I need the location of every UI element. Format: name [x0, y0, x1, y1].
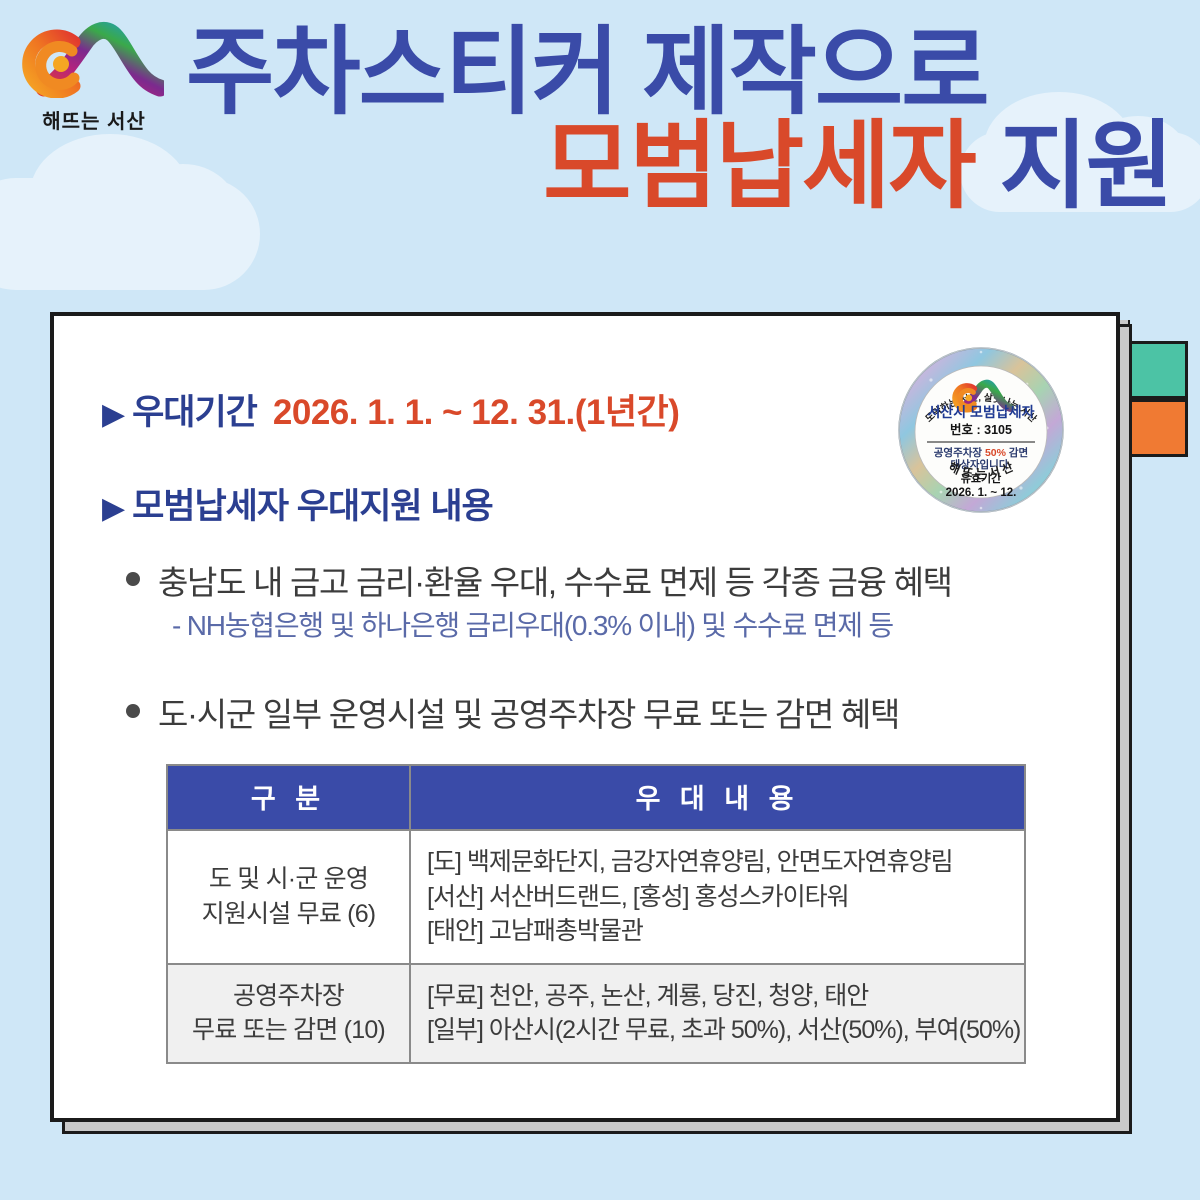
benefit-2-line-1: [무료] 천안, 공주, 논산, 계룡, 당진, 청양, 태안 — [427, 979, 1024, 1014]
bullet-item-1: 충남도 내 금고 금리·환율 우대, 수수료 면제 등 각종 금융 혜택 — [126, 556, 952, 604]
table-cell-category-2: 공영주차장 무료 또는 감면 (10) — [167, 964, 410, 1063]
table-row: 공영주차장 무료 또는 감면 (10) [무료] 천안, 공주, 논산, 계룡,… — [167, 964, 1025, 1063]
category-1-line-2: 지원시설 무료 (6) — [174, 897, 403, 932]
brand-slogan: 해뜨는 서산 — [14, 105, 174, 134]
table-header-benefit: 우 대 내 용 — [410, 765, 1025, 830]
title-line-2-blue: 지원 — [999, 113, 1172, 220]
triangle-marker-icon-2: ▶ — [102, 494, 125, 524]
sticker-benefit-line-1: 공영주차장 50% 감면 — [934, 446, 1028, 459]
page-title: 주차스티커 제작으로 모범납세자 지원 — [186, 26, 1186, 214]
bullet-subtext-1: - NH농협은행 및 하나은행 금리우대(0.3% 이내) 및 수수료 면제 등 — [172, 604, 893, 644]
sticker-number: 번호 : 3105 — [950, 422, 1012, 437]
benefit-1-line-2: [서산] 서산버드랜드, [홍성] 홍성스카이타워 — [427, 880, 1024, 915]
table-row: 도 및 시·군 운영 지원시설 무료 (6) [도] 백제문화단지, 금강자연휴… — [167, 830, 1025, 964]
table-header-category: 구 분 — [167, 765, 410, 830]
benefit-2-line-2: [일부] 아산시(2시간 무료, 초과 50%), 서산(50%), 부여(50… — [427, 1013, 1024, 1048]
benefit-1-line-3: [태안] 고남패총박물관 — [427, 914, 1024, 949]
bullet-text-1: 충남도 내 금고 금리·환율 우대, 수수료 면제 등 각종 금융 혜택 — [158, 556, 952, 604]
content-label: 모범납세자 우대지원 내용 — [132, 478, 493, 529]
seosan-sunrise-logo-icon — [14, 12, 164, 98]
category-2-line-2: 무료 또는 감면 (10) — [174, 1013, 403, 1048]
sticker-title: 서산시 모범납세자 — [928, 404, 1035, 420]
bullet-item-2: 도·시군 일부 운영시설 및 공영주차장 무료 또는 감면 혜택 — [126, 688, 899, 736]
bullet-dot-icon-2 — [126, 704, 140, 718]
benefit-1-line-1: [도] 백제문화단지, 금강자연휴양림, 안면도자연휴양림 — [427, 845, 1024, 880]
period-label: 우대기간 — [132, 384, 257, 435]
title-line-2-orange: 모범납세자 — [543, 113, 975, 220]
sticker-seal-icon: 도약하는 서산, 살맛나는 서산 서산시 모범납세자 번호 : 3105 공영주… — [897, 336, 1065, 524]
title-line-1: 주차스티커 제작으로 — [186, 26, 1186, 120]
bullet-dot-icon — [126, 572, 140, 586]
period-heading: ▶ 우대기간 2026. 1. 1. ~ 12. 31.(1년간) — [102, 384, 679, 435]
table-header-row: 구 분 우 대 내 용 — [167, 765, 1025, 830]
content-heading: ▶ 모범납세자 우대지원 내용 — [102, 478, 493, 529]
table-cell-category-1: 도 및 시·군 운영 지원시설 무료 (6) — [167, 830, 410, 964]
bullet-text-2: 도·시군 일부 운영시설 및 공영주차장 무료 또는 감면 혜택 — [158, 688, 899, 736]
period-value: 2026. 1. 1. ~ 12. 31.(1년간) — [273, 384, 680, 435]
table-cell-benefit-1: [도] 백제문화단지, 금강자연휴양림, 안면도자연휴양림 [서산] 서산버드랜… — [410, 830, 1025, 964]
brand-logo: 해뜨는 서산 — [14, 12, 174, 140]
triangle-marker-icon: ▶ — [102, 400, 125, 430]
cloud-left-lower-icon — [14, 214, 224, 284]
benefits-table: 구 분 우 대 내 용 도 및 시·군 운영 지원시설 무료 (6) [도] 백… — [166, 764, 1026, 1064]
taxpayer-sticker: 도약하는 서산, 살맛나는 서산 서산시 모범납세자 번호 : 3105 공영주… — [897, 336, 1065, 524]
table-cell-benefit-2: [무료] 천안, 공주, 논산, 계룡, 당진, 청양, 태안 [일부] 아산시… — [410, 964, 1025, 1063]
category-2-line-1: 공영주차장 — [174, 979, 403, 1014]
title-line-2: 모범납세자 지원 — [186, 120, 1186, 214]
category-1-line-1: 도 및 시·군 운영 — [174, 862, 403, 897]
sticker-validity-value: 2026. 1. ~ 12. — [946, 487, 1017, 499]
